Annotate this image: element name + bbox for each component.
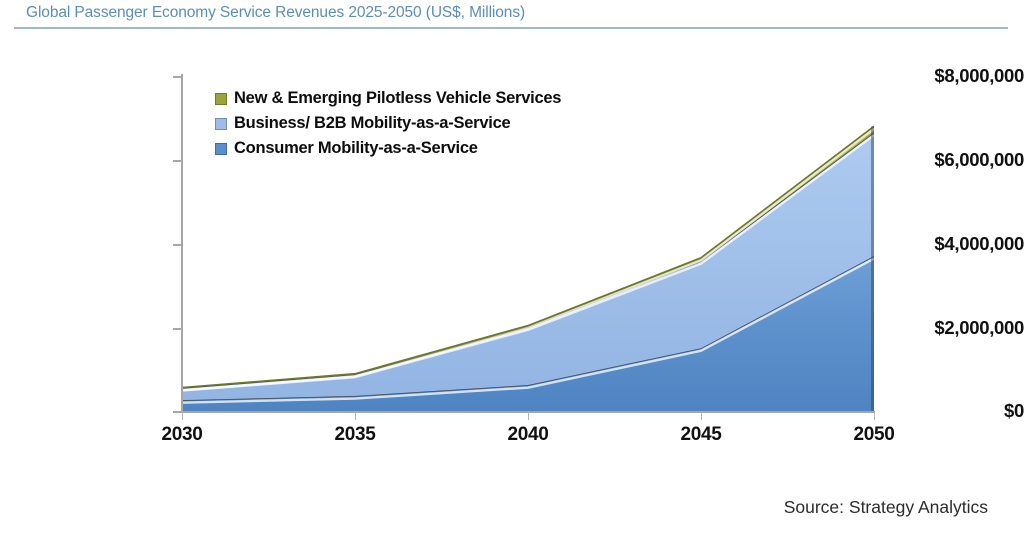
x-axis-label-2040: 2040 — [468, 424, 588, 446]
y-tick-mark — [173, 244, 182, 246]
legend-label: Consumer Mobility-as-a-Service — [234, 139, 478, 158]
x-axis-label-2035: 2035 — [295, 424, 415, 446]
legend-item-business: Business/ B2B Mobility-as-a-Service — [215, 111, 561, 136]
y-axis-label-4m: $4,000,000 — [896, 233, 1024, 255]
x-axis-label-2050: 2050 — [814, 424, 934, 446]
x-tick-mark — [701, 412, 702, 420]
y-axis-label-2m: $2,000,000 — [896, 317, 1024, 339]
y-axis-label-6m: $6,000,000 — [896, 149, 1024, 171]
chart-legend: New & Emerging Pilotless Vehicle Service… — [215, 86, 561, 161]
x-axis-label-2030: 2030 — [122, 424, 242, 446]
legend-item-pilotless: New & Emerging Pilotless Vehicle Service… — [215, 86, 561, 111]
y-axis-label-8m: $8,000,000 — [896, 65, 1024, 87]
y-tick-mark — [173, 328, 182, 330]
source-attribution: Source: Strategy Analytics — [784, 497, 988, 518]
legend-swatch-icon — [215, 143, 227, 155]
x-tick-mark — [528, 412, 529, 420]
legend-item-consumer: Consumer Mobility-as-a-Service — [215, 136, 561, 161]
x-tick-mark — [874, 412, 875, 420]
plot-right-edge — [871, 126, 874, 411]
y-tick-mark — [173, 411, 182, 413]
y-tick-mark — [173, 76, 182, 78]
legend-swatch-icon — [215, 93, 227, 105]
x-tick-mark — [182, 412, 183, 420]
legend-swatch-icon — [215, 118, 227, 130]
x-axis-label-2045: 2045 — [641, 424, 761, 446]
legend-label: Business/ B2B Mobility-as-a-Service — [234, 114, 510, 133]
legend-label: New & Emerging Pilotless Vehicle Service… — [234, 89, 561, 108]
y-axis-label-0: $0 — [896, 400, 1024, 422]
x-tick-mark — [355, 412, 356, 420]
y-tick-mark — [173, 160, 182, 162]
chart-container: $8,000,000 $6,000,000 $4,000,000 $2,000,… — [0, 0, 1024, 543]
